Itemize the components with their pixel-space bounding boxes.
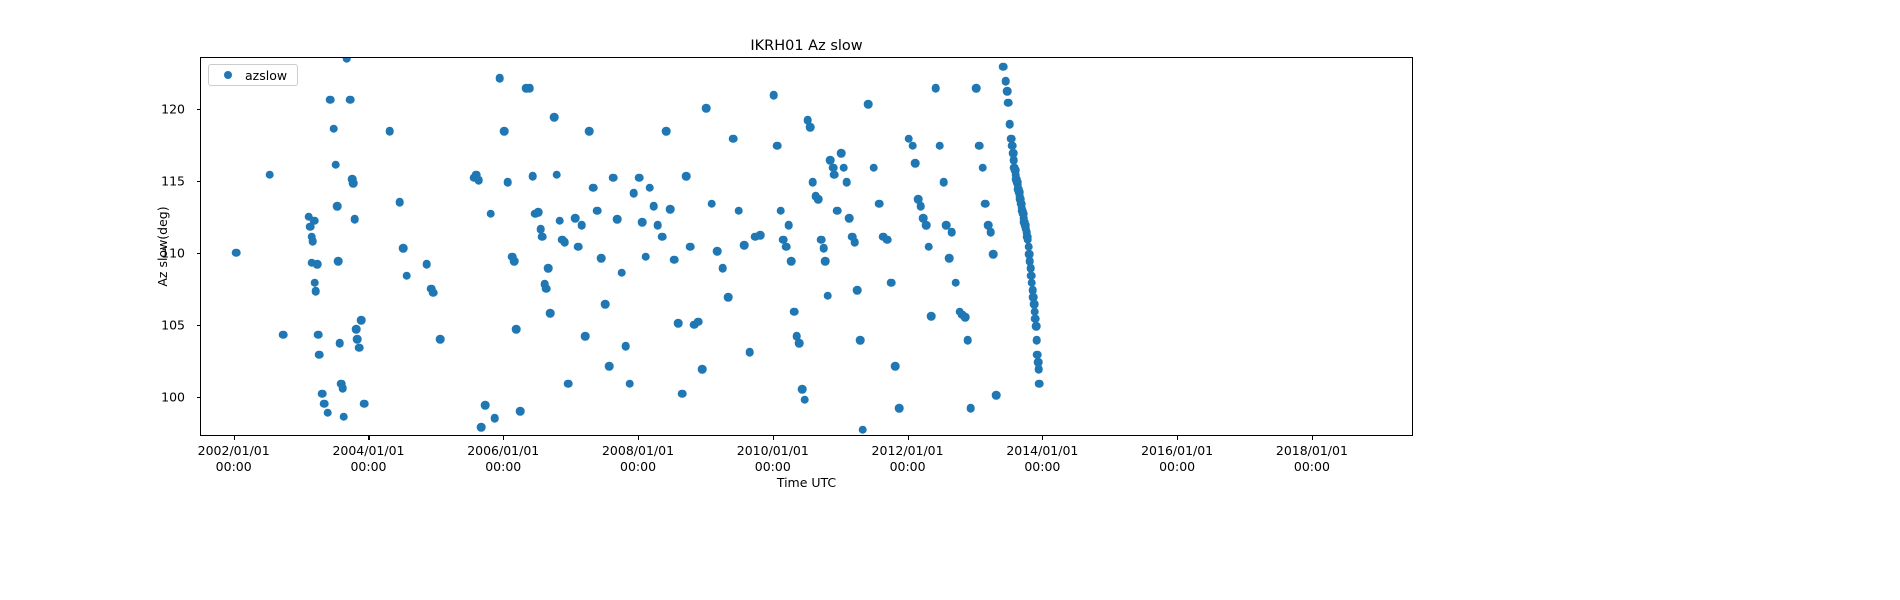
scatter-point [674, 319, 683, 328]
x-axis-tick-mark [908, 436, 909, 440]
scatter-point [510, 257, 519, 266]
x-axis-tick-mark [234, 436, 235, 440]
scatter-point [756, 231, 765, 240]
scatter-point [646, 183, 655, 192]
scatter-point [951, 279, 960, 288]
scatter-point [1003, 87, 1012, 96]
scatter-point [883, 235, 892, 244]
scatter-point [355, 343, 364, 352]
y-axis-tick-label: 110 [125, 245, 185, 260]
scatter-point [864, 100, 873, 109]
scatter-point [966, 404, 975, 413]
scatter-point [1032, 336, 1041, 345]
scatter-point [698, 365, 707, 374]
scatter-point [770, 91, 779, 100]
y-axis-tick-mark [197, 253, 201, 254]
scatter-point [809, 178, 818, 187]
scatter-point [887, 279, 896, 288]
scatter-point [597, 254, 606, 263]
scatter-point [310, 217, 319, 226]
y-axis-tick-label: 100 [125, 390, 185, 405]
scatter-point [999, 62, 1008, 71]
scatter-point [577, 221, 586, 230]
scatter-point [353, 335, 362, 344]
scatter-point [875, 199, 884, 208]
scatter-point [850, 238, 859, 247]
scatter-point [309, 237, 318, 246]
scatter-point [858, 425, 867, 434]
scatter-point [978, 163, 987, 172]
scatter-point [340, 413, 349, 422]
scatter-point [526, 84, 535, 93]
scatter-point [585, 127, 594, 136]
scatter-point [916, 202, 925, 211]
y-axis-tick-mark [197, 109, 201, 110]
scatter-point [782, 242, 791, 251]
scatter-point [399, 244, 408, 253]
scatter-point [350, 215, 359, 224]
scatter-point [360, 400, 369, 409]
scatter-point [1004, 98, 1013, 107]
scatter-point [564, 379, 573, 388]
scatter-point [670, 255, 679, 264]
x-axis-tick-mark [503, 436, 504, 440]
scatter-point [422, 260, 431, 269]
scatter-point [817, 235, 826, 244]
scatter-point [635, 173, 644, 182]
scatter-point [718, 264, 727, 273]
x-axis-tick-mark [368, 436, 369, 440]
scatter-point [1034, 365, 1043, 374]
scatter-point [538, 232, 547, 241]
scatter-point [806, 123, 815, 132]
scatter-point [621, 342, 630, 351]
scatter-point [331, 160, 340, 169]
scatter-point [992, 391, 1001, 400]
scatter-point [821, 257, 830, 266]
scatter-point [477, 423, 486, 432]
scatter-point [561, 238, 570, 247]
scatter-point [265, 170, 274, 179]
scatter-point [837, 149, 846, 158]
scatter-point [486, 209, 495, 218]
scatter-point [686, 242, 695, 251]
scatter-point [641, 253, 650, 262]
scatter-point [939, 178, 948, 187]
scatter-point [436, 335, 445, 344]
scatter-point [326, 95, 335, 104]
scatter-point [702, 104, 711, 113]
scatter-point [853, 286, 862, 295]
scatter-point [495, 74, 504, 83]
scatter-point [311, 279, 320, 288]
chart-title: IKRH01 Az slow [200, 38, 1413, 54]
scatter-point [512, 325, 521, 334]
scatter-point [318, 389, 327, 398]
scatter-point [931, 84, 940, 93]
scatter-point [503, 178, 512, 187]
legend[interactable]: azslow [208, 64, 298, 86]
scatter-point [574, 242, 583, 251]
scatter-point [891, 362, 900, 371]
y-axis-tick-mark [197, 397, 201, 398]
scatter-point [830, 170, 839, 179]
y-axis-tick-label: 120 [125, 101, 185, 116]
x-axis-tick-mark [1312, 436, 1313, 440]
scatter-point [385, 127, 394, 136]
scatter-point [662, 127, 671, 136]
scatter-point [833, 206, 842, 215]
scatter-point [625, 379, 634, 388]
y-axis-tick-mark [197, 325, 201, 326]
scatter-point [713, 247, 722, 256]
scatter-point [279, 330, 288, 339]
x-axis-tick-mark [638, 436, 639, 440]
scatter-point [801, 395, 810, 404]
scatter-point [629, 189, 638, 198]
scatter-point [1032, 322, 1041, 331]
scatter-point [349, 179, 358, 188]
scatter-point [908, 142, 917, 151]
y-axis-tick-mark [197, 181, 201, 182]
scatter-point [601, 300, 610, 309]
scatter-point [922, 221, 931, 230]
scatter-point [593, 206, 602, 215]
scatter-point [534, 208, 543, 217]
scatter-point [961, 313, 970, 322]
scatter-point [589, 183, 598, 192]
scatter-point [555, 217, 564, 226]
scatter-point [395, 198, 404, 207]
scatter-point [745, 348, 754, 357]
scatter-point [708, 199, 717, 208]
scatter-point [346, 95, 355, 104]
scatter-point [895, 404, 904, 413]
scatter-point [947, 228, 956, 237]
scatter-point [925, 242, 934, 251]
scatter-point [474, 176, 483, 185]
scatter-point [734, 206, 743, 215]
legend-label: azslow [245, 68, 287, 83]
scatter-point [314, 330, 323, 339]
x-axis-tick-mark [1042, 436, 1043, 440]
scatter-point [342, 57, 351, 62]
scatter-point [682, 172, 691, 181]
scatter-point [329, 124, 338, 133]
scatter-point [840, 163, 849, 172]
scatter-point [334, 257, 343, 266]
scatter-point [542, 284, 551, 293]
scatter-point [975, 142, 984, 151]
scatter-point [323, 408, 332, 417]
scatter-point [987, 228, 996, 237]
scatter-point [935, 142, 944, 151]
scatter-point [550, 113, 559, 122]
scatter-point [581, 332, 590, 341]
x-axis-tick-mark [1177, 436, 1178, 440]
x-axis-tick-label: 2018/01/0100:00 [1232, 443, 1392, 474]
scatter-point [336, 339, 345, 348]
scatter-point [694, 317, 703, 326]
scatter-point [845, 214, 854, 223]
scatter-point [500, 127, 509, 136]
scatter-point [773, 142, 782, 151]
scatter-point [605, 362, 614, 371]
scatter-point [1005, 120, 1014, 129]
scatter-point [313, 260, 322, 269]
scatter-point [528, 172, 537, 181]
scatter-point [964, 336, 973, 345]
scatter-point [357, 316, 366, 325]
scatter-point [856, 336, 865, 345]
legend-marker-icon [215, 71, 241, 80]
scatter-point [1035, 379, 1044, 388]
scatter-point [981, 199, 990, 208]
scatter-point [609, 173, 618, 182]
scatter-point [315, 351, 324, 360]
x-axis-tick-mark [773, 436, 774, 440]
scatter-point [819, 244, 828, 253]
scatter-points-layer [201, 58, 1412, 435]
figure-canvas: IKRH01 Az slow Az slow(deg) 100105110115… [0, 0, 1900, 600]
scatter-point [311, 287, 320, 296]
scatter-point [650, 202, 659, 211]
scatter-point [798, 385, 807, 394]
scatter-point [823, 291, 832, 300]
scatter-point [654, 221, 663, 230]
y-axis-tick-label: 115 [125, 173, 185, 188]
scatter-point [729, 134, 738, 143]
scatter-point [814, 195, 823, 204]
scatter-point [724, 293, 733, 302]
scatter-point [842, 178, 851, 187]
scatter-point [784, 221, 793, 230]
scatter-point [787, 257, 796, 266]
scatter-point [546, 309, 555, 318]
scatter-point [927, 312, 936, 321]
scatter-point [613, 215, 622, 224]
scatter-point [945, 254, 954, 263]
scatter-point [776, 206, 785, 215]
scatter-point [740, 241, 749, 250]
scatter-point [320, 400, 329, 409]
scatter-point [869, 163, 878, 172]
scatter-point [972, 84, 981, 93]
scatter-point [352, 325, 361, 334]
y-axis-tick-label: 105 [125, 318, 185, 333]
scatter-point [553, 170, 562, 179]
scatter-point [516, 407, 525, 416]
scatter-point [638, 218, 647, 227]
scatter-point [491, 414, 500, 423]
scatter-point [1001, 77, 1010, 86]
scatter-point [617, 268, 626, 277]
scatter-point [481, 401, 490, 410]
scatter-point [338, 384, 347, 393]
scatter-point [232, 248, 241, 257]
scatter-point [544, 264, 553, 273]
plot-axes[interactable] [200, 57, 1413, 436]
scatter-point [989, 250, 998, 259]
scatter-point [429, 289, 438, 298]
scatter-point [666, 205, 675, 214]
scatter-point [795, 339, 804, 348]
scatter-point [678, 389, 687, 398]
scatter-point [402, 271, 411, 280]
scatter-point [790, 307, 799, 316]
x-axis-label: Time UTC [200, 475, 1413, 490]
scatter-point [333, 202, 342, 211]
scatter-point [911, 159, 920, 168]
scatter-point [658, 232, 667, 241]
